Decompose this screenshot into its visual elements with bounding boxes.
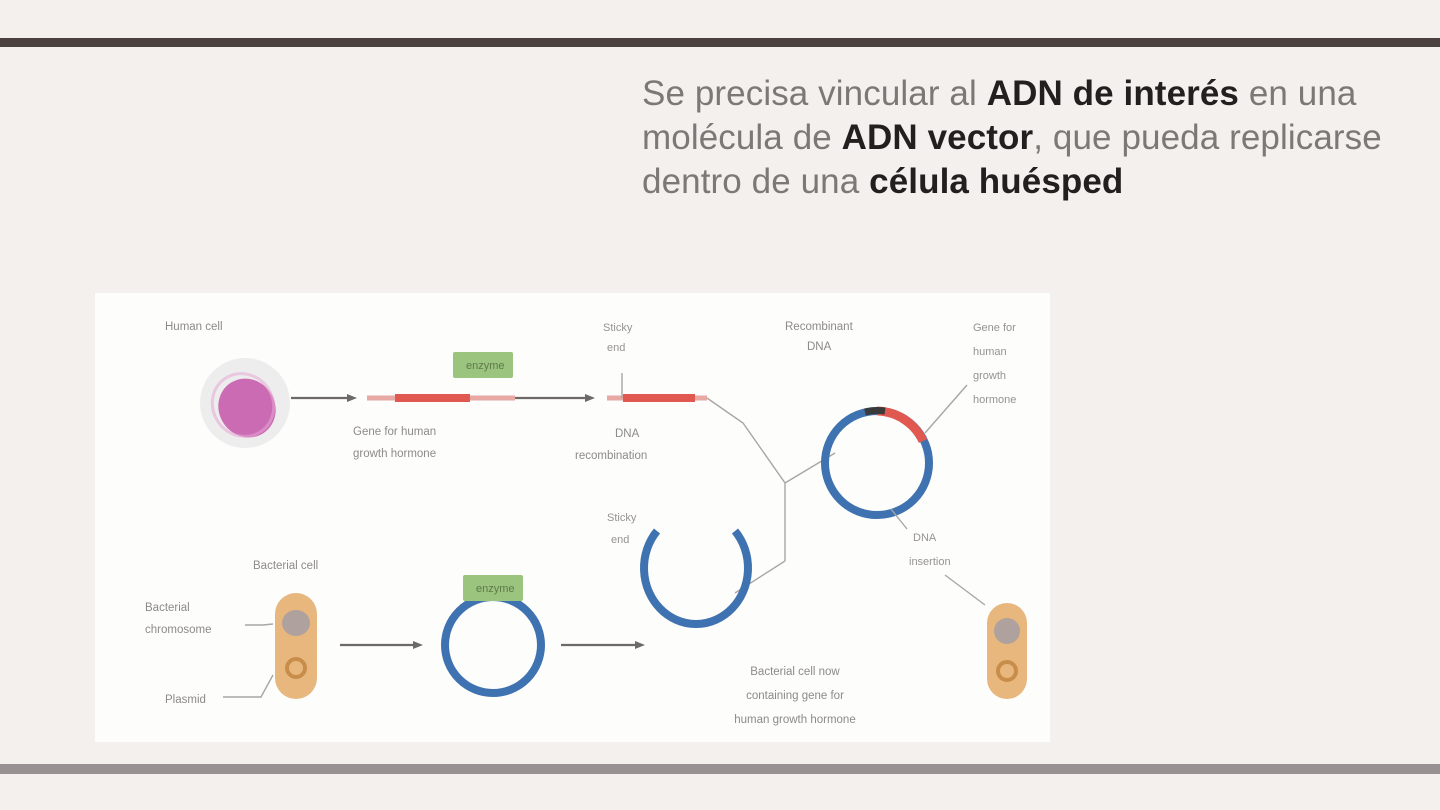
bacterial-cell-body xyxy=(275,593,317,699)
label-gene-growth-hormone-line1: Gene for human xyxy=(353,426,436,438)
label-dna-insertion-line2: insertion xyxy=(909,556,951,568)
bacterial-chromosome-shape xyxy=(282,610,310,636)
body-text-bold-3: célula xyxy=(869,162,969,201)
leader-insert-to-gene-label xyxy=(925,385,967,433)
bottom-accent-bar xyxy=(0,764,1440,774)
label-gene-growth-hormone-line2: growth hormone xyxy=(353,448,436,460)
label-plasmid: Plasmid xyxy=(165,694,206,706)
label-bacterial-cell: Bacterial cell xyxy=(253,560,318,572)
leader-plasmid xyxy=(223,675,273,697)
label-dna-insertion-line1: DNA xyxy=(913,532,937,544)
label-sticky-end-mid-line2: end xyxy=(611,534,629,546)
label-human-cell: Human cell xyxy=(165,321,223,333)
body-text: Se precisa vincular al ADN de interés en… xyxy=(642,72,1402,204)
label-bacterial-chromosome-line1: Bacterial xyxy=(145,602,190,614)
arrow-head-2 xyxy=(585,394,595,402)
recombinant-plasmid-insert xyxy=(877,411,923,441)
enzyme-tag-bottom-label: enzyme xyxy=(476,583,515,595)
label-sticky-end-top-line2: end xyxy=(607,342,625,354)
label-dna-recombination-line2: recombination xyxy=(575,450,647,462)
label-right-gene-line1: Gene for xyxy=(973,322,1016,334)
body-text-bold-4: huésped xyxy=(979,162,1124,201)
label-recombinant-dna-line2: DNA xyxy=(807,341,832,353)
arrow-head-3 xyxy=(413,641,423,649)
leader-chromosome xyxy=(245,624,273,625)
slide: Se precisa vincular al ADN de interés en… xyxy=(0,0,1440,810)
recombinant-dna-diagram: Human cell enzyme Gene for human growth … xyxy=(95,293,1050,742)
label-right-gene-line3: growth xyxy=(973,370,1006,382)
label-sticky-end-mid-line1: Sticky xyxy=(607,512,637,524)
body-text-segment-1: Se precisa vincular al xyxy=(642,74,987,113)
diagram-panel: Human cell enzyme Gene for human growth … xyxy=(95,293,1050,742)
body-text-segment-2-tail: , que xyxy=(1033,118,1111,157)
result-bacterium-chromosome xyxy=(994,618,1020,644)
label-dna-recombination-line1: DNA xyxy=(615,428,640,440)
arrow-head-4 xyxy=(635,641,645,649)
label-right-gene-line4: hormone xyxy=(973,394,1016,406)
label-bacterial-chromosome-line2: chromosome xyxy=(145,624,211,636)
label-recombinant-dna-line1: Recombinant xyxy=(785,321,854,333)
enzyme-tag-top-label: enzyme xyxy=(466,360,505,372)
leader-top-dna-to-junction xyxy=(707,398,785,561)
isolated-plasmid-ring xyxy=(445,597,541,693)
body-text-bold-2: ADN vector xyxy=(842,118,1034,157)
opened-plasmid-arc xyxy=(644,531,748,624)
label-result-line3: human growth hormone xyxy=(734,714,855,726)
label-right-gene-line2: human xyxy=(973,346,1007,358)
result-bacterium-body xyxy=(987,603,1027,699)
top-accent-bar xyxy=(0,38,1440,47)
label-sticky-end-top-line1: Sticky xyxy=(603,322,633,334)
label-result-line1: Bacterial cell now xyxy=(750,666,840,678)
leader-insertion-to-bacteria xyxy=(945,575,985,605)
arrow-head-1 xyxy=(347,394,357,402)
recombinant-plasmid-marker xyxy=(865,410,885,412)
body-text-bold-1: ADN de interés xyxy=(987,74,1239,113)
label-result-line2: containing gene for xyxy=(746,690,844,702)
